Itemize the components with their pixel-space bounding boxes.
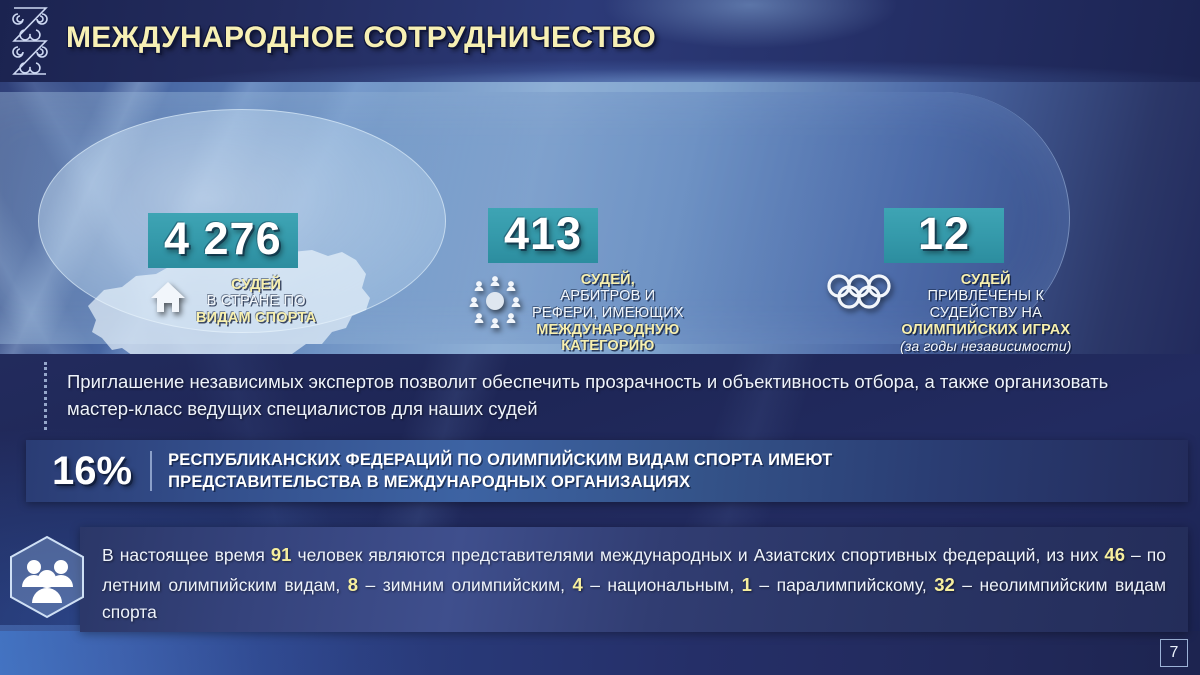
title-bar: МЕЖДУНАРОДНОЕ СОТРУДНИЧЕСТВО [0,0,1200,82]
bottom-info-highlight: 46 [1104,544,1125,565]
stat-caption-line: (за годы независимости) [900,338,1072,354]
bottom-info-highlight: 8 [348,574,358,595]
stat-block: 413 СУДЕЙ, [466,208,684,354]
note-text: Приглашение независимых экспертов позвол… [67,369,1164,423]
percent-value: 16% [40,451,150,491]
stat-captions: СУДЕЙ, АРБИТРОВ И РЕФЕРИ, ИМЕЮЩИХ МЕЖДУН… [532,272,684,354]
olympic-rings-icon [826,272,892,312]
stat-caption-line: КАТЕГОРИЮ [532,338,684,354]
percent-divider [150,451,152,491]
stat-caption-line: ПРИВЛЕЧЕНЫ К [900,288,1072,305]
stat-value-chip: 413 [488,208,598,263]
hero-band: 4 276 СУДЕЙ В СТРАНЕ ПО ВИДАМ СПОРТА 413 [0,82,1200,354]
bottom-info-highlight: 91 [271,544,292,565]
page-title: МЕЖДУНАРОДНОЕ СОТРУДНИЧЕСТВО [66,21,656,55]
stat-body: СУДЕЙ, АРБИТРОВ И РЕФЕРИ, ИМЕЮЩИХ МЕЖДУН… [466,272,684,354]
stat-caption-line: СУДЕЙСТВУ НА [900,305,1072,322]
stat-captions: СУДЕЙ В СТРАНЕ ПО ВИДАМ СПОРТА [196,277,316,327]
bottom-info-text: В настоящее время 91 человек являются пр… [102,540,1166,627]
stat-value: 12 [918,208,970,259]
slide-root: МЕЖДУНАРОДНОЕ СОТРУДНИЧЕСТВО 4 276 СУДЕЙ… [0,0,1200,675]
people-group-hex-icon [6,533,88,621]
stat-block: 4 276 СУДЕЙ В СТРАНЕ ПО ВИДАМ СПОРТА [148,213,316,327]
bottom-info-highlight: 1 [742,574,752,595]
stat-caption-line: В СТРАНЕ ПО [196,293,316,310]
percent-text-line: РЕСПУБЛИКАНСКИХ ФЕДЕРАЦИЙ ПО ОЛИМПИЙСКИМ… [168,449,832,471]
stat-block: 12 СУДЕЙ ПРИВЛЕЧЕНЫ К СУДЕЙСТВУ НА [826,208,1072,354]
stat-value-chip: 4 276 [148,213,298,268]
stat-caption-line: МЕЖДУНАРОДНУЮ [532,322,684,339]
footer-bar: 7 [0,631,1200,675]
bottom-info-box: В настоящее время 91 человек являются пр… [80,527,1188,632]
stat-caption-line: РЕФЕРИ, ИМЕЮЩИХ [532,305,684,322]
stat-caption-line: АРБИТРОВ И [532,288,684,305]
percent-text: РЕСПУБЛИКАНСКИХ ФЕДЕРАЦИЙ ПО ОЛИМПИЙСКИМ… [168,449,832,494]
stat-value-chip: 12 [884,208,1004,263]
bottom-info-highlight: 4 [572,574,582,595]
people-circle-icon [466,272,524,330]
percent-bar: 16% РЕСПУБЛИКАНСКИХ ФЕДЕРАЦИЙ ПО ОЛИМПИЙ… [26,440,1188,502]
stat-body: СУДЕЙ ПРИВЛЕЧЕНЫ К СУДЕЙСТВУ НА ОЛИМПИЙС… [826,272,1072,354]
percent-text-line: ПРЕДСТАВИТЕЛЬСТВА В МЕЖДУНАРОДНЫХ ОРГАНИ… [168,471,832,493]
stat-caption-line: ВИДАМ СПОРТА [196,310,316,327]
stat-caption-line: СУДЕЙ, [532,272,684,289]
stat-body: СУДЕЙ В СТРАНЕ ПО ВИДАМ СПОРТА [148,277,316,327]
house-icon [148,277,188,317]
stat-caption-line: СУДЕЙ [900,272,1072,289]
bottom-info-highlight: 32 [934,574,955,595]
stat-value: 4 276 [164,213,282,264]
stat-caption-line: ОЛИМПИЙСКИХ ИГРАХ [900,322,1072,339]
kazakh-ornament-icon [6,2,54,80]
stat-captions: СУДЕЙ ПРИВЛЕЧЕНЫ К СУДЕЙСТВУ НА ОЛИМПИЙС… [900,272,1072,354]
page-number: 7 [1160,639,1188,667]
stat-caption-line: СУДЕЙ [196,277,316,294]
note-callout: Приглашение независимых экспертов позвол… [44,362,1164,430]
stat-value: 413 [504,208,582,259]
